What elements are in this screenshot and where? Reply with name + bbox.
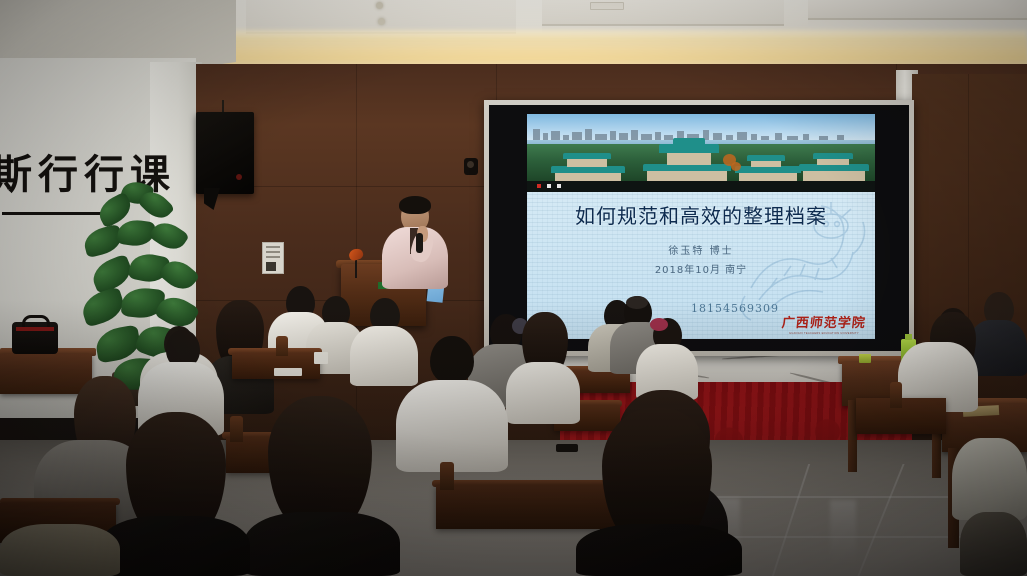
slide-university-logo: 广西师范学院 GUANGXI TEACHERS EDUCATION UNIVER…: [781, 312, 867, 335]
bench-post: [276, 336, 288, 356]
sign-char-1: 斯: [0, 155, 33, 195]
slide-dot-white: [547, 184, 551, 188]
cove-light: [210, 36, 1027, 66]
slide-date-place: 2018年10月 南宁: [527, 261, 875, 276]
phone-device: [556, 444, 578, 452]
wall-speaker: [196, 112, 254, 194]
bench-post: [230, 416, 243, 442]
desk: [0, 354, 92, 394]
wall-notice-sheet: [262, 242, 284, 274]
paper-sheet: [274, 368, 302, 376]
security-camera-icon: [464, 158, 478, 175]
bench-post: [440, 462, 454, 490]
slide-dot-white: [557, 184, 561, 188]
slide-title: 如何规范和高效的整理档案: [527, 200, 875, 229]
slide-presenter: 徐玉特 博士: [527, 242, 875, 257]
paper-sheet: [314, 352, 328, 364]
ceiling-downlight: [378, 18, 385, 25]
slide-dot-red: [537, 184, 541, 188]
lecture-room-photo: 斯 行 行 课: [0, 0, 1027, 576]
black-bag: [12, 322, 58, 354]
sign-char-2: 行: [38, 155, 79, 195]
green-cup: [859, 354, 871, 363]
slide-header-photo: [527, 114, 875, 192]
bench: [436, 485, 620, 529]
logo-chinese-text: 广西师范学院: [780, 312, 868, 331]
presentation-slide: 如何规范和高效的整理档案 徐玉特 博士 2018年10月 南宁 18154569…: [527, 114, 875, 339]
ceiling-downlight: [376, 2, 383, 9]
logo-english-text: GUANGXI TEACHERS EDUCATION UNIVERSITY: [781, 332, 867, 335]
ceiling-vent: [590, 2, 624, 10]
bench-post: [890, 382, 902, 408]
